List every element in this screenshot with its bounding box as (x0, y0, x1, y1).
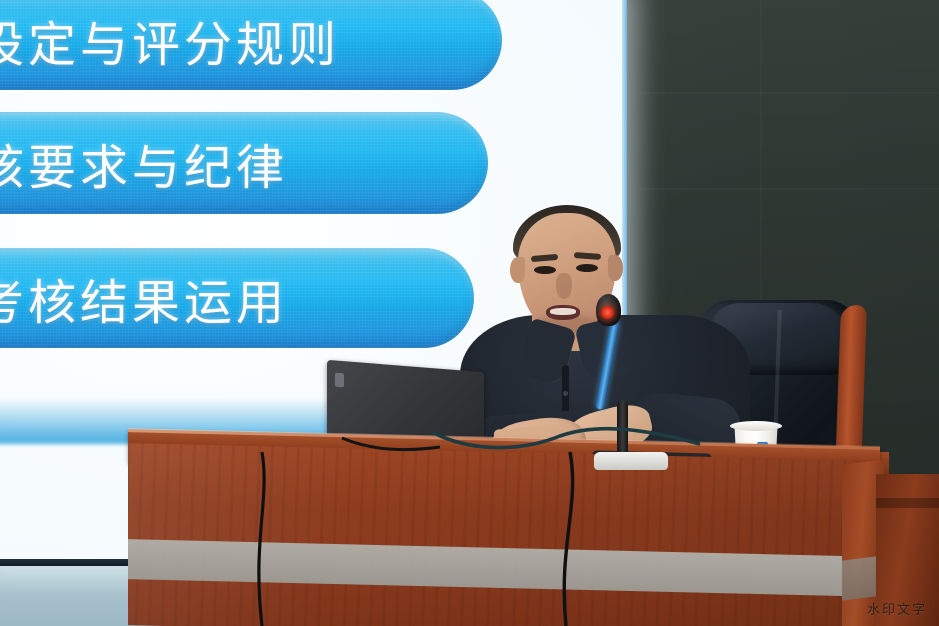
photo-scene: 设定与评分规则 核要求与纪律 考核结果运用 (0, 0, 939, 626)
speaker-ear-right (608, 255, 623, 281)
slide-bar-3-label: 考核结果运用 (0, 263, 288, 333)
shirt-button (563, 391, 568, 396)
microphone-base (594, 452, 668, 470)
microphone-stem (617, 400, 628, 456)
speaker-eye-left (534, 266, 556, 274)
slide-bar-2: 核要求与纪律 (0, 112, 488, 214)
podium-front-panel (128, 443, 880, 626)
speaker-nose (556, 273, 572, 299)
furniture-right-ledge (876, 498, 939, 508)
speaker-eye-right (576, 264, 598, 272)
watermark-text: 水印文字 (867, 599, 927, 618)
slide-bar-3: 考核结果运用 (0, 248, 474, 348)
slide-bar-2-label: 核要求与纪律 (0, 128, 288, 198)
paper-cup-rim (730, 421, 782, 431)
speaker-teeth (550, 308, 576, 315)
microphone-led-icon (601, 306, 614, 319)
slide-bar-1-label: 设定与评分规则 (0, 5, 340, 75)
speaker-ear-left (510, 257, 525, 283)
laptop-logo (335, 373, 344, 388)
slide-bar-1: 设定与评分规则 (0, 0, 502, 90)
wall-seam (640, 92, 939, 94)
wall-seam (640, 188, 939, 190)
